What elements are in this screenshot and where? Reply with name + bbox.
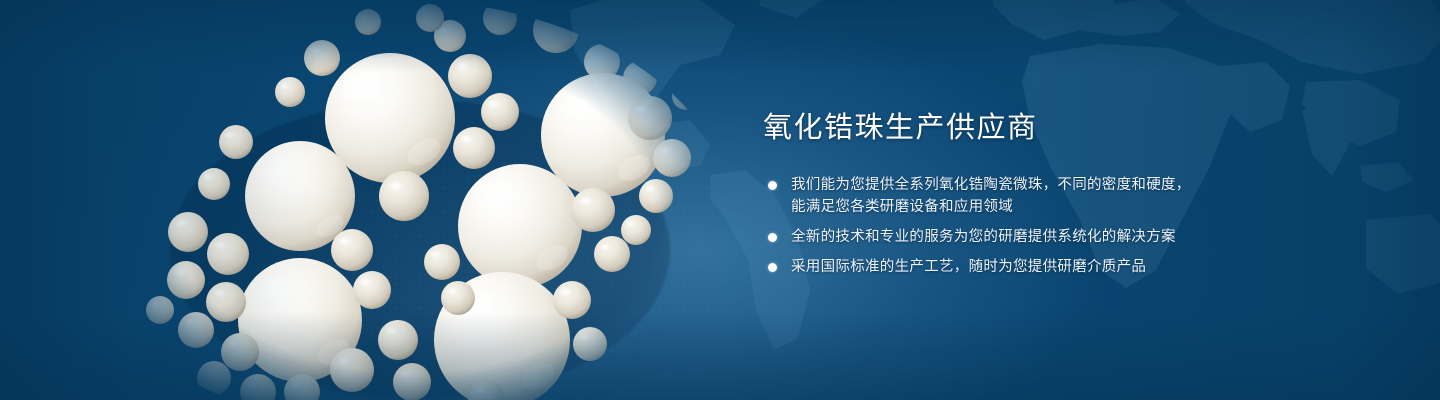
bullet-dot-icon [768,233,777,242]
bullet-line: 采用国际标准的生产工艺，随时为您提供研磨介质产品 [791,256,1283,278]
bullet-dot-icon [768,263,777,272]
list-item: 采用国际标准的生产工艺，随时为您提供研磨介质产品 [763,256,1283,278]
bullet-line: 全新的技术和专业的服务为您的研磨提供系统化的解决方案 [791,226,1283,248]
bullet-line: 我们能为您提供全系列氧化锆陶瓷微珠，不同的密度和硬度， [791,174,1283,196]
banner-bullet-list: 我们能为您提供全系列氧化锆陶瓷微珠，不同的密度和硬度， 能满足您各类研磨设备和应… [763,174,1283,278]
bullet-line: 能满足您各类研磨设备和应用领域 [791,196,1283,218]
banner-copy: 氧化锆珠生产供应商 我们能为您提供全系列氧化锆陶瓷微珠，不同的密度和硬度， 能满… [763,110,1283,278]
list-item: 全新的技术和专业的服务为您的研磨提供系统化的解决方案 [763,226,1283,248]
banner-headline: 氧化锆珠生产供应商 [763,110,1283,146]
hero-banner: 氧化锆珠生产供应商 我们能为您提供全系列氧化锆陶瓷微珠，不同的密度和硬度， 能满… [0,0,1440,400]
list-item: 我们能为您提供全系列氧化锆陶瓷微珠，不同的密度和硬度， 能满足您各类研磨设备和应… [763,174,1283,218]
bullet-dot-icon [768,181,777,190]
